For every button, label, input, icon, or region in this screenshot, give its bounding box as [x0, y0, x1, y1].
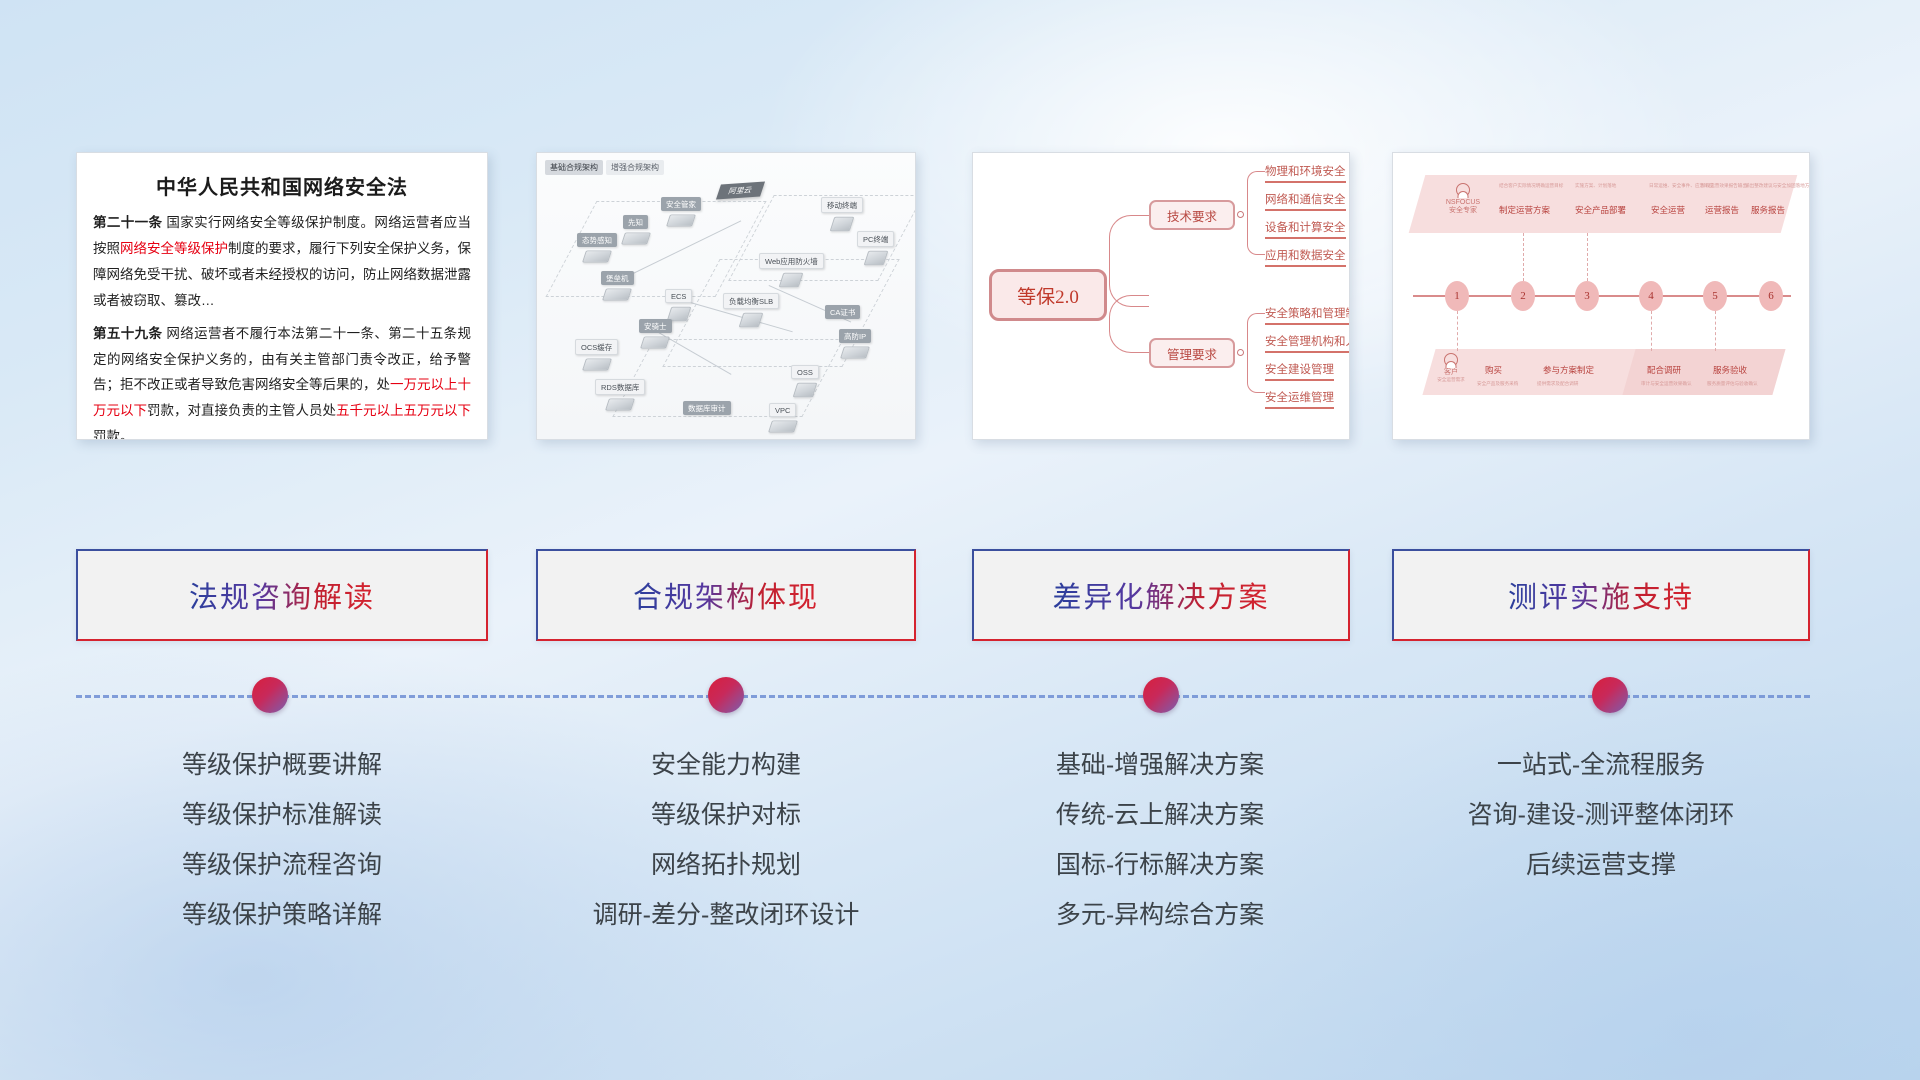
timeline-tick-2 — [1523, 233, 1524, 281]
timeline-tick-5-down — [1715, 311, 1716, 351]
node-oss: OSS — [791, 365, 819, 399]
list-item: 传统-云上解决方案 — [960, 790, 1360, 840]
top-step-2-sub: 实施方案、计划落地 — [1575, 183, 1616, 189]
timeline-bullet-2[interactable] — [708, 677, 744, 713]
section-list-4: 一站式-全流程服务 咨询-建设-测评整体闭环 后续运营支撑 — [1392, 740, 1810, 890]
list-item: 等级保护对标 — [520, 790, 932, 840]
bottom-step-4-sub: 服务质量评估与验收确认 — [1707, 381, 1758, 387]
node-anqishi: 安骑士 — [639, 319, 672, 350]
law-article-59-text-c: 罚款。 — [93, 429, 134, 440]
section-list-1: 等级保护概要讲解 等级保护标准解读 等级保护流程咨询 等级保护策略详解 — [76, 740, 488, 940]
law-article-21-label: 第二十一条 — [93, 215, 162, 230]
thumbnail-cards-row: 中华人民共和国网络安全法 第二十一条 国家实行网络安全等级保护制度。网络运营者应… — [0, 152, 1920, 450]
node-security-butler: 安全管家 — [661, 197, 701, 228]
card-dengbao-mindmap[interactable]: 等保2.0 技术要求 管理要求 物理和环境安全 网络和通信安全 设备和计算安全 … — [972, 152, 1350, 440]
mindmap-leaf-device-compute: 设备和计算安全 — [1265, 219, 1346, 239]
list-item: 一站式-全流程服务 — [1392, 740, 1810, 790]
expert-avatar-icon — [1456, 183, 1470, 197]
list-item: 咨询-建设-测评整体闭环 — [1392, 790, 1810, 840]
mindmap-leaf-ops-mgmt: 安全运维管理 — [1265, 389, 1334, 409]
section-title-label-3: 差异化解决方案 — [1052, 574, 1269, 616]
list-item: 多元-异构综合方案 — [960, 890, 1360, 940]
law-article-59-label: 第五十九条 — [93, 326, 162, 341]
list-item: 安全能力构建 — [520, 740, 932, 790]
mindmap-leaf-physical-env: 物理和环境安全 — [1265, 163, 1346, 183]
timeline-node-6: 6 — [1759, 281, 1783, 311]
top-step-4-sub: 阶段运营效果报告输出 — [1701, 183, 1747, 189]
expert-role: 安全专家 — [1433, 207, 1493, 215]
section-titles-row: 法规咨询解读 合规架构体现 差异化解决方案 测评实施支持 — [0, 549, 1920, 641]
node-web-application-firewall: Web应用防火墙 — [759, 253, 824, 289]
top-step-5-sub: 输出整改建议与安全加固落地方案 — [1745, 183, 1810, 189]
node-mobile-terminal: 移动终端 — [821, 197, 863, 233]
list-item: 国标-行标解决方案 — [960, 840, 1360, 890]
top-step-1-label: 制定运营方案 — [1499, 205, 1550, 216]
node-anti-ddos-ip: 高防IP — [839, 329, 871, 360]
mindmap-connector-mgmt — [1109, 295, 1149, 353]
section-title-box-2[interactable]: 合规架构体现 — [536, 549, 916, 641]
bottom-step-2-label: 参与方案制定 — [1543, 365, 1594, 376]
card-nsfocus-operation-timeline[interactable]: NSFOCUS 安全专家 结合客户实际情况明确运营目标 制定运营方案 实施方案、… — [1392, 152, 1810, 440]
top-step-4-label: 运营报告 — [1705, 205, 1739, 216]
timeline-tick-1-down — [1457, 311, 1458, 351]
expert-avatar-block: NSFOCUS 安全专家 — [1433, 183, 1493, 216]
list-item: 基础-增强解决方案 — [960, 740, 1360, 790]
section-title-box-3[interactable]: 差异化解决方案 — [972, 549, 1350, 641]
mindmap-collapse-dot-tech[interactable] — [1237, 211, 1244, 218]
timeline-tick-3 — [1587, 233, 1588, 281]
timeline-dashed-line — [76, 695, 1810, 698]
top-step-3-label: 安全运营 — [1651, 205, 1685, 216]
list-item: 等级保护策略详解 — [76, 890, 488, 940]
node-load-balancer: 负载均衡SLB — [723, 293, 779, 329]
node-ca-certificate: CA证书 — [825, 305, 860, 319]
mindmap-root-node: 等保2.0 — [989, 269, 1107, 321]
list-item: 后续运营支撑 — [1392, 840, 1810, 890]
architecture-banner: 阿里云 — [716, 182, 765, 200]
section-list-3: 基础-增强解决方案 传统-云上解决方案 国标-行标解决方案 多元-异构综合方案 — [960, 740, 1360, 940]
mindmap-leaf-network-comm: 网络和通信安全 — [1265, 191, 1346, 211]
law-article-21: 第二十一条 国家实行网络安全等级保护制度。网络运营者应当按照网络安全等级保护制度… — [93, 210, 471, 314]
bottom-step-2-sub: 提供需求及配合调研 — [1537, 381, 1578, 387]
law-title: 中华人民共和国网络安全法 — [77, 153, 487, 210]
section-title-box-4[interactable]: 测评实施支持 — [1392, 549, 1810, 641]
law-article-59: 第五十九条 网络运营者不履行本法第二十一条、第二十五条规定的网络安全保护义务的，… — [93, 321, 471, 440]
timeline-node-3: 3 — [1575, 281, 1599, 311]
timeline-axis — [1413, 295, 1791, 297]
law-article-59-text-b: 罚款，对直接负责的主管人员处 — [147, 403, 336, 418]
section-lists-row: 等级保护概要讲解 等级保护标准解读 等级保护流程咨询 等级保护策略详解 安全能力… — [0, 740, 1920, 1000]
node-rds-database: RDS数据库 — [595, 379, 645, 412]
mindmap-leaf-app-data: 应用和数据安全 — [1265, 247, 1346, 267]
architecture-tabs[interactable]: 基础合规架构 增强合规架构 — [545, 160, 664, 175]
node-vpc: VPC — [769, 403, 796, 434]
list-item: 等级保护流程咨询 — [76, 840, 488, 890]
tab-enhanced-architecture[interactable]: 增强合规架构 — [606, 160, 664, 175]
mindmap-leaf-construction-mgmt: 安全建设管理 — [1265, 361, 1334, 381]
timeline-bullet-3[interactable] — [1143, 677, 1179, 713]
node-situational-awareness: 态势感知 — [577, 233, 617, 264]
section-title-label-4: 测评实施支持 — [1508, 574, 1694, 616]
section-list-2: 安全能力构建 等级保护对标 网络拓扑规划 调研-差分-整改闭环设计 — [520, 740, 932, 940]
card-compliance-architecture[interactable]: 基础合规架构 增强合规架构 阿里云 安全管家 先知 态势感知 堡垒机 ECS 安… — [536, 152, 916, 440]
timeline-node-2: 2 — [1511, 281, 1535, 311]
list-item: 调研-差分-整改闭环设计 — [520, 890, 932, 940]
node-ocs-cache: OCS缓存 — [575, 339, 618, 372]
node-ecs: ECS — [665, 289, 692, 323]
bottom-step-3-sub: 审计与安全运营效果确认 — [1641, 381, 1692, 387]
list-item: 等级保护概要讲解 — [76, 740, 488, 790]
top-step-1-sub: 结合客户实际情况明确运营目标 — [1499, 183, 1563, 189]
bottom-step-3-label: 配合调研 — [1647, 365, 1681, 376]
card-cybersecurity-law[interactable]: 中华人民共和国网络安全法 第二十一条 国家实行网络安全等级保护制度。网络运营者应… — [76, 152, 488, 440]
bottom-step-4-label: 服务验收 — [1713, 365, 1747, 376]
mindmap-curve-mgmt — [1247, 313, 1265, 393]
list-item: 等级保护标准解读 — [76, 790, 488, 840]
timeline-tick-4-down — [1651, 311, 1652, 351]
section-title-label-2: 合规架构体现 — [633, 574, 819, 616]
architecture-diagram: 基础合规架构 增强合规架构 阿里云 安全管家 先知 态势感知 堡垒机 ECS 安… — [537, 153, 915, 439]
mindmap: 等保2.0 技术要求 管理要求 物理和环境安全 网络和通信安全 设备和计算安全 … — [973, 153, 1349, 439]
customer-note: 安全运营需求 — [1425, 377, 1477, 383]
node-database-audit: 数据库审计 — [683, 401, 731, 415]
list-item: 网络拓扑规划 — [520, 840, 932, 890]
node-bastion-host: 堡垒机 — [601, 271, 634, 302]
node-pc-terminal: PC终端 — [857, 231, 894, 267]
mindmap-curve-tech — [1247, 171, 1265, 255]
timeline-node-4: 4 — [1639, 281, 1663, 311]
top-step-2-label: 安全产品部署 — [1575, 205, 1626, 216]
mindmap-branch-management: 管理要求 — [1149, 338, 1235, 368]
timeline-bullet-4[interactable] — [1592, 677, 1628, 713]
law-article-59-highlight-b: 五千元以上五万元以下 — [336, 403, 471, 418]
mindmap-collapse-dot-mgmt[interactable] — [1237, 349, 1244, 356]
section-title-label-1: 法规咨询解读 — [189, 574, 375, 616]
mindmap-connector-tech — [1109, 215, 1149, 307]
mindmap-leaf-policy-system: 安全策略和管理制度 — [1265, 305, 1350, 325]
law-article-21-highlight: 网络安全等级保护 — [120, 241, 228, 256]
law-body: 第二十一条 国家实行网络安全等级保护制度。网络运营者应当按照网络安全等级保护制度… — [77, 210, 487, 440]
bottom-step-1-sub: 安全产品及服务采购 — [1477, 381, 1518, 387]
slide-canvas: 中华人民共和国网络安全法 第二十一条 国家实行网络安全等级保护制度。网络运营者应… — [0, 0, 1920, 1080]
operation-timeline: NSFOCUS 安全专家 结合客户实际情况明确运营目标 制定运营方案 实施方案、… — [1393, 153, 1809, 439]
top-step-5-label: 服务报告 — [1751, 205, 1785, 216]
customer-avatar-block: 客户 安全运营需求 — [1425, 353, 1477, 383]
timeline-node-1: 1 — [1445, 281, 1469, 311]
bottom-step-1-label: 购买 — [1485, 365, 1502, 376]
mindmap-leaf-org-personnel: 安全管理机构和人员 — [1265, 333, 1350, 353]
timeline-bullet-1[interactable] — [252, 677, 288, 713]
section-title-box-1[interactable]: 法规咨询解读 — [76, 549, 488, 641]
tab-basic-architecture[interactable]: 基础合规架构 — [545, 160, 603, 175]
mindmap-branch-technical: 技术要求 — [1149, 200, 1235, 230]
customer-avatar-icon — [1444, 353, 1458, 367]
timeline-node-5: 5 — [1703, 281, 1727, 311]
node-xianzhi: 先知 — [623, 215, 649, 246]
